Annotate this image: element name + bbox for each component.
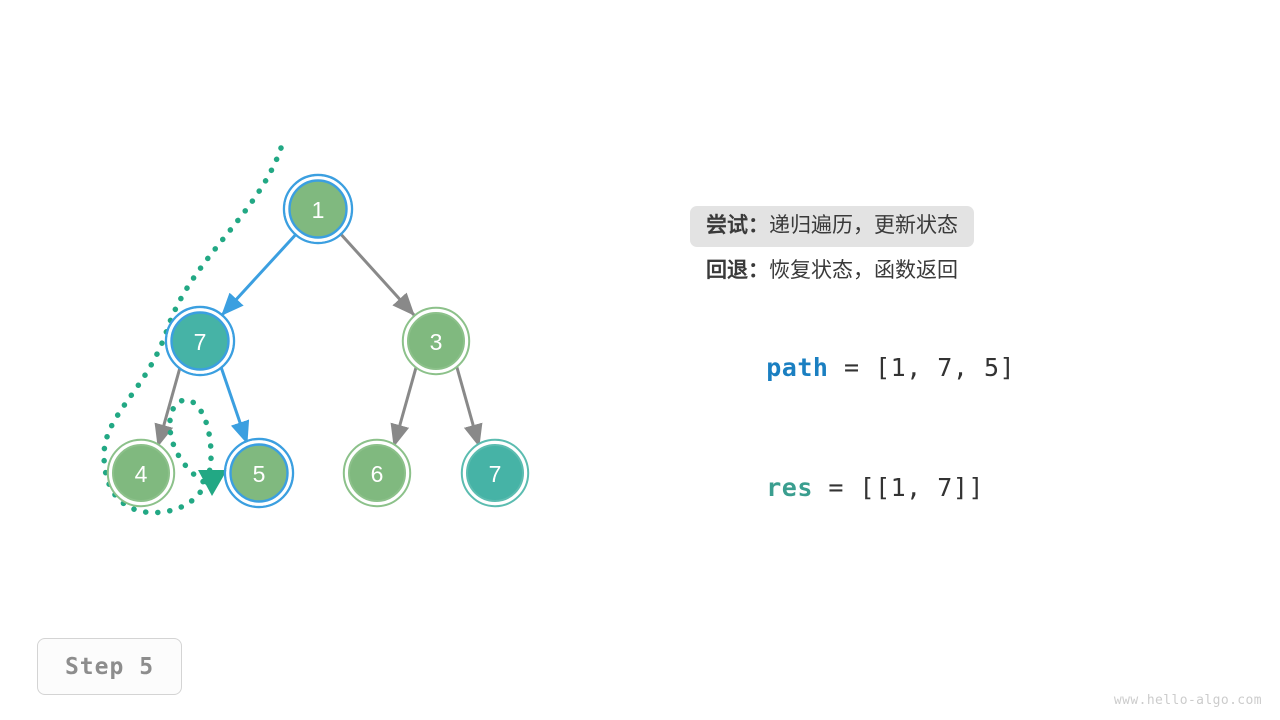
phase-row-backtrack: 回退：恢复状态，函数返回 — [690, 251, 1250, 292]
node-1-label: 1 — [312, 197, 325, 223]
tree-node-3[interactable]: 3 — [403, 308, 469, 374]
node-3-label: 3 — [430, 329, 443, 355]
tree-nodes: 1 7 3 4 5 — [108, 175, 528, 507]
node-4-label: 4 — [135, 461, 148, 487]
tree-node-7-left[interactable]: 7 — [166, 307, 234, 375]
phase-row-try: 尝试：递归遍历，更新状态 — [690, 206, 1250, 247]
tree-node-5[interactable]: 5 — [225, 439, 293, 507]
phase-backtrack-label: 回退： — [706, 259, 769, 282]
edge-1-to-7 — [222, 231, 299, 315]
tree-node-7-right[interactable]: 7 — [462, 440, 528, 506]
tree-node-1[interactable]: 1 — [284, 175, 352, 243]
edge-1-to-3 — [338, 231, 414, 315]
watermark: www.hello-algo.com — [1114, 693, 1262, 708]
res-variable-line: res = [[1, 7]] — [690, 444, 984, 531]
node-5-label: 5 — [253, 461, 266, 487]
path-value: [1, 7, 5] — [875, 353, 1015, 382]
step-badge: Step 5 — [37, 638, 182, 695]
path-equals: = — [828, 353, 875, 382]
node-6-label: 6 — [371, 461, 384, 487]
phase-try: 尝试：递归遍历，更新状态 — [690, 206, 974, 247]
node-7-right-label: 7 — [489, 461, 502, 487]
step-badge-label: Step 5 — [65, 654, 154, 680]
node-7-left-label: 7 — [194, 329, 207, 355]
tree-node-6[interactable]: 6 — [344, 440, 410, 506]
phase-backtrack: 回退：恢复状态，函数返回 — [690, 251, 974, 292]
res-equals: = — [813, 473, 860, 502]
phase-try-text: 递归遍历，更新状态 — [769, 214, 958, 237]
phase-try-label: 尝试： — [706, 214, 769, 237]
edge-7-to-5 — [220, 364, 247, 443]
edge-3-to-6 — [394, 364, 417, 446]
phase-backtrack-text: 恢复状态，函数返回 — [769, 259, 958, 282]
annotation-panel: 尝试：递归遍历，更新状态 回退：恢复状态，函数返回 path = [1, 7, … — [690, 206, 1250, 296]
res-variable-name: res — [766, 473, 813, 502]
tree-node-4[interactable]: 4 — [108, 440, 174, 506]
path-variable-line: path = [1, 7, 5] — [690, 324, 1015, 411]
res-value: [[1, 7]] — [860, 473, 984, 502]
tree-diagram: 1 7 3 4 5 — [0, 0, 660, 720]
edge-3-to-7 — [456, 364, 479, 446]
path-variable-name: path — [766, 353, 828, 382]
